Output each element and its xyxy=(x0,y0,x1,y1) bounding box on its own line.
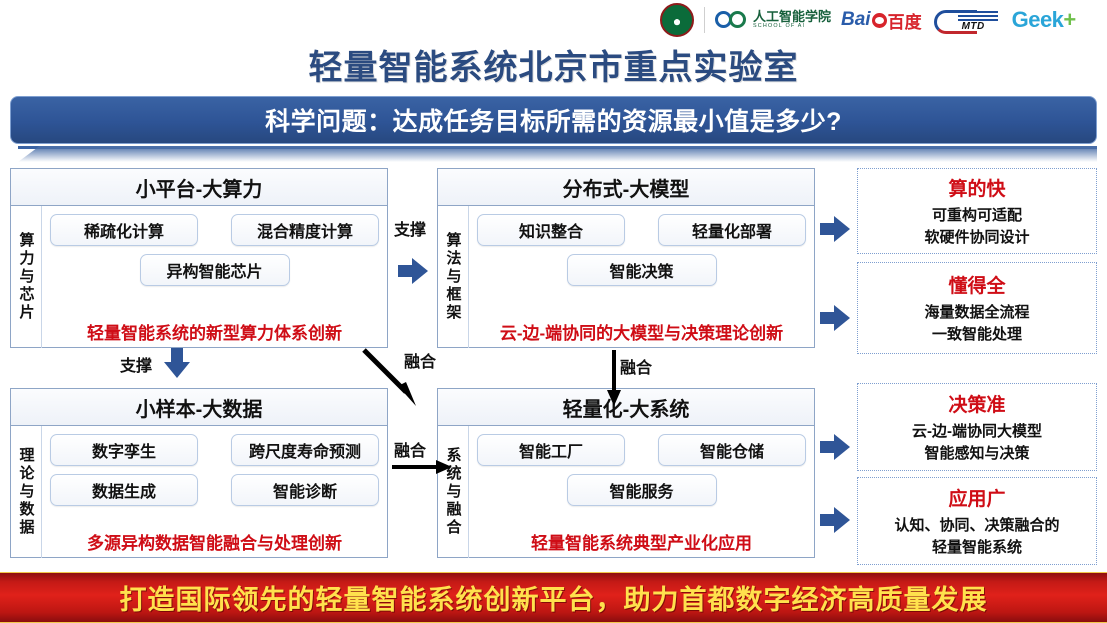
baidu-logo: Bai 百度 xyxy=(841,8,922,33)
outcome-card-1-line-1: 可重构可适配 xyxy=(932,205,1022,227)
quadrant-1-header: 小平台-大算力 xyxy=(11,169,387,206)
quadrant-2-header: 分布式-大模型 xyxy=(438,169,814,206)
question-banner: 科学问题：达成任务目标所需的资源最小值是多少? xyxy=(10,96,1097,144)
connector-label-fusion-vertical: 融合 xyxy=(620,354,652,378)
quadrant-2-title: 分布式-大模型 xyxy=(563,173,690,202)
quadrant-4-item-2[interactable]: 智能仓储 xyxy=(658,434,806,466)
baidu-latin-label: Bai xyxy=(841,9,871,31)
quadrant-3-item-2[interactable]: 跨尺度寿命预测 xyxy=(231,434,379,466)
outcome-card-4-title: 应用广 xyxy=(948,484,1005,511)
quadrant-3-header: 小样本-大数据 xyxy=(11,389,387,426)
school-of-ai-label-en: SCHOOL OF AI xyxy=(753,24,831,29)
outcome-card-3-line-2: 智能感知与决策 xyxy=(924,443,1029,465)
quadrant-4-title: 轻量化-大系统 xyxy=(563,393,690,422)
quadrant-4-highlight: 轻量智能系统典型产业化应用 xyxy=(477,529,806,554)
outcome-card-2-line-2: 一致智能处理 xyxy=(932,324,1022,346)
outcome-card-2-title: 懂得全 xyxy=(948,271,1005,298)
quadrant-3-item-3[interactable]: 数据生成 xyxy=(50,474,198,506)
quadrant-2-item-1[interactable]: 知识整合 xyxy=(477,214,625,246)
infinity-icon xyxy=(715,10,749,30)
quadrant-2-item-2[interactable]: 轻量化部署 xyxy=(658,214,806,246)
arrow-right-blue-icon-card1 xyxy=(820,214,850,244)
quadrant-1-highlight: 轻量智能系统的新型算力体系创新 xyxy=(50,319,379,344)
arrow-right-blue-icon-card3 xyxy=(820,432,850,462)
quadrant-3-title: 小样本-大数据 xyxy=(136,393,263,422)
page-title: 轻量智能系统北京市重点实验室 xyxy=(0,40,1107,89)
connector-label-support-horizontal: 支撑 xyxy=(394,216,426,240)
arrow-right-blue-icon-card4 xyxy=(820,505,850,535)
outcome-card-1-line-2: 软硬件协同设计 xyxy=(924,227,1029,249)
outcome-card-3-line-1: 云-边-端协同大模型 xyxy=(912,421,1042,443)
banner-shadow xyxy=(18,146,1097,162)
slide-canvas: 人工智能学院 SCHOOL OF AI Bai 百度 MTD Geek+ 轻量智… xyxy=(0,0,1107,621)
quadrant-2-side-label: 算法与框架 xyxy=(438,206,469,348)
outcome-card-comprehensive[interactable]: 懂得全 海量数据全流程 一致智能处理 xyxy=(857,262,1097,354)
mtd-label: MTD xyxy=(962,21,985,32)
quadrant-3-item-4[interactable]: 智能诊断 xyxy=(231,474,379,506)
school-of-ai-logo: 人工智能学院 SCHOOL OF AI xyxy=(715,10,831,30)
quadrant-1-item-3[interactable]: 异构智能芯片 xyxy=(140,254,290,286)
quadrant-distributed-big-model[interactable]: 分布式-大模型 算法与框架 知识整合 轻量化部署 智能决策 云-边-端协同的大模… xyxy=(437,168,815,348)
arrow-right-black-icon xyxy=(392,458,454,476)
outcome-card-fast[interactable]: 算的快 可重构可适配 软硬件协同设计 xyxy=(857,168,1097,254)
quadrant-4-header: 轻量化-大系统 xyxy=(438,389,814,426)
quadrant-small-platform-big-compute[interactable]: 小平台-大算力 算力与芯片 稀疏化计算 混合精度计算 异构智能芯片 轻量智能系统… xyxy=(10,168,388,348)
university-seal-icon xyxy=(660,3,694,37)
mtd-bars-icon xyxy=(958,11,998,21)
quadrant-1-side-label: 算力与芯片 xyxy=(11,206,42,348)
outcome-card-1-title: 算的快 xyxy=(948,174,1005,201)
logo-divider xyxy=(704,7,705,33)
quadrant-3-highlight: 多源异构数据智能融合与处理创新 xyxy=(50,529,379,554)
arrow-right-blue-icon-card2 xyxy=(820,303,850,333)
quadrant-1-title: 小平台-大算力 xyxy=(136,173,263,202)
quadrant-3-item-1[interactable]: 数字孪生 xyxy=(50,434,198,466)
quadrant-4-item-1[interactable]: 智能工厂 xyxy=(477,434,625,466)
arrow-right-blue-icon xyxy=(398,256,428,286)
quadrant-2-item-3[interactable]: 智能决策 xyxy=(567,254,717,286)
quadrant-1-item-2[interactable]: 混合精度计算 xyxy=(231,214,379,246)
arrow-down-blue-icon xyxy=(162,348,192,380)
outcome-card-4-line-1: 认知、协同、决策融合的 xyxy=(894,515,1059,537)
outcome-card-accurate[interactable]: 决策准 云-边-端协同大模型 智能感知与决策 xyxy=(857,383,1097,471)
outcome-card-broad[interactable]: 应用广 认知、协同、决策融合的 轻量智能系统 xyxy=(857,477,1097,565)
partner-logo-bar: 人工智能学院 SCHOOL OF AI Bai 百度 MTD Geek+ xyxy=(660,2,1107,38)
baidu-paw-icon xyxy=(872,13,887,28)
connector-label-fusion-diagonal: 融合 xyxy=(404,348,436,372)
quadrant-3-side-label: 理论与数据 xyxy=(11,426,42,558)
quadrant-lightweight-big-system[interactable]: 轻量化-大系统 系统与融合 智能工厂 智能仓储 智能服务 轻量智能系统典型产业化… xyxy=(437,388,815,558)
connector-label-support-vertical: 支撑 xyxy=(120,352,152,376)
quadrant-1-item-1[interactable]: 稀疏化计算 xyxy=(50,214,198,246)
question-banner-text: 科学问题：达成任务目标所需的资源最小值是多少? xyxy=(265,102,842,138)
outcome-card-3-title: 决策准 xyxy=(948,390,1005,417)
quadrant-4-item-3[interactable]: 智能服务 xyxy=(567,474,717,506)
baidu-cn-label: 百度 xyxy=(888,8,922,33)
mtd-logo: MTD xyxy=(932,6,1002,34)
quadrant-4-side-label: 系统与融合 xyxy=(438,426,469,558)
geek-plus-logo: Geek+ xyxy=(1012,7,1076,33)
school-of-ai-label-cn: 人工智能学院 xyxy=(753,10,831,23)
quadrant-2-highlight: 云-边-端协同的大模型与决策理论创新 xyxy=(477,319,806,344)
footer-slogan-banner: 打造国际领先的轻量智能系统创新平台，助力首都数字经济高质量发展 xyxy=(0,572,1107,623)
footer-slogan-text: 打造国际领先的轻量智能系统创新平台，助力首都数字经济高质量发展 xyxy=(120,578,988,617)
outcome-card-4-line-2: 轻量智能系统 xyxy=(932,537,1022,559)
quadrant-small-sample-big-data[interactable]: 小样本-大数据 理论与数据 数字孪生 跨尺度寿命预测 数据生成 智能诊断 多源异… xyxy=(10,388,388,558)
outcome-card-2-line-1: 海量数据全流程 xyxy=(924,302,1029,324)
